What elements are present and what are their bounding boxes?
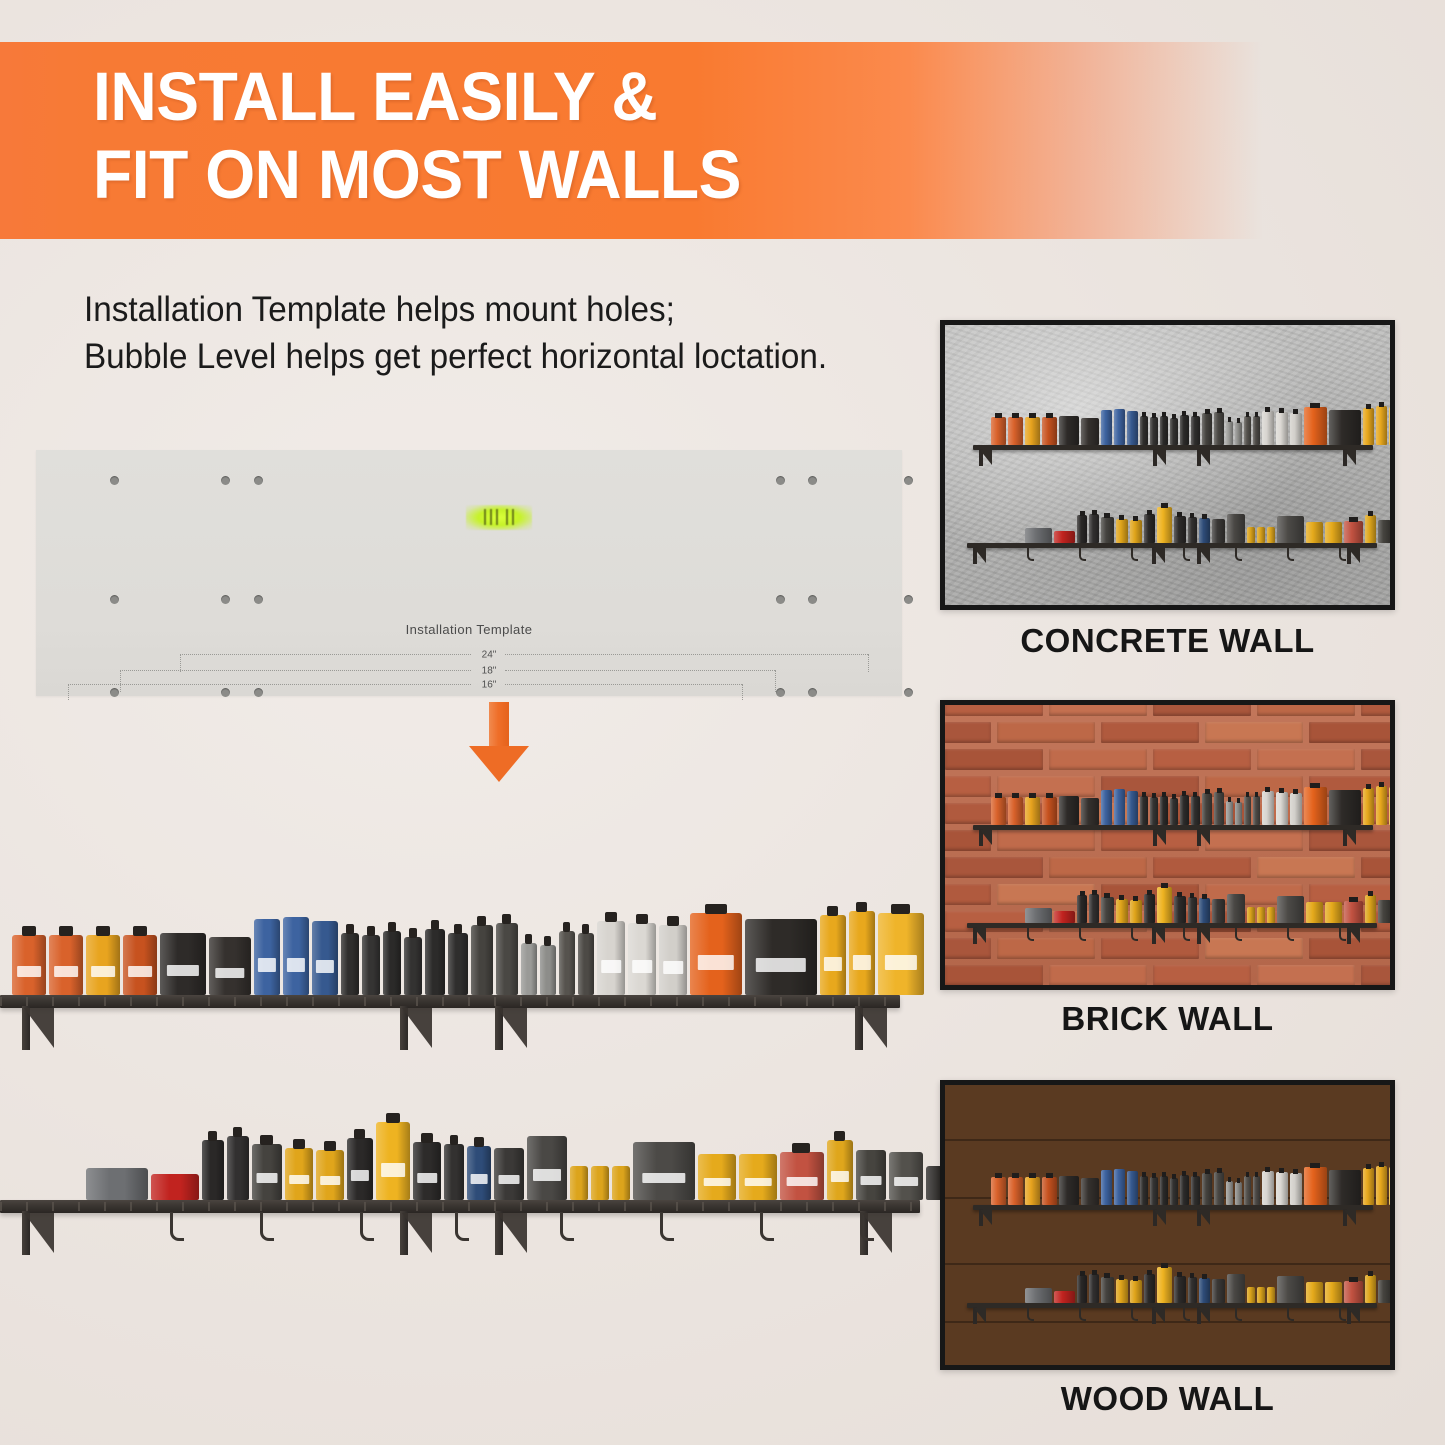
bottle-cap xyxy=(1349,897,1358,902)
mini-shelf-board xyxy=(973,825,1373,830)
bottle-cap xyxy=(1172,1174,1176,1179)
bottle-cap xyxy=(995,793,1002,798)
gray-jug xyxy=(1101,517,1114,543)
yellow-bucket xyxy=(1325,1282,1342,1303)
shelf-wire xyxy=(806,997,808,1006)
shelf-wire xyxy=(130,1202,132,1211)
yellow-brush xyxy=(1247,1287,1255,1303)
mini-shelf-hook xyxy=(1131,548,1138,561)
dimension-tick xyxy=(742,684,743,700)
brick xyxy=(945,857,1043,878)
mini-shelf-bracket xyxy=(1153,1209,1167,1226)
bottle-cap xyxy=(22,926,36,936)
product-label xyxy=(471,1174,488,1184)
installation-template-caption: Installation Template xyxy=(0,622,938,637)
bottle-cap xyxy=(1205,789,1210,794)
dimension-label: 24" xyxy=(482,650,497,661)
shelf-wire xyxy=(364,1202,366,1211)
mini-shelf-bracket xyxy=(1197,1307,1211,1324)
bottle-cap xyxy=(1104,1273,1110,1278)
bottle-cap xyxy=(1147,1270,1152,1275)
shelf-hook xyxy=(170,1212,184,1241)
yellow-brush xyxy=(1267,527,1275,543)
brick xyxy=(1153,700,1251,716)
bottle-cap xyxy=(525,934,532,944)
product-label xyxy=(258,958,276,972)
bottle-cap xyxy=(1092,1270,1097,1275)
product-label xyxy=(885,955,917,970)
bottle-cap xyxy=(354,1129,365,1139)
shelf-wire xyxy=(0,997,2,1006)
shelf-wire xyxy=(104,1202,106,1211)
shelf-wire xyxy=(390,997,392,1006)
gray-kettle xyxy=(1212,899,1225,923)
gray-bin xyxy=(1378,900,1391,923)
brick xyxy=(1257,749,1355,770)
gray-jug xyxy=(1101,897,1114,923)
bottle-cap xyxy=(1265,407,1270,412)
product-label xyxy=(287,958,305,972)
shelf-wire xyxy=(910,1202,912,1211)
gray-bin xyxy=(1378,520,1391,543)
shelf-wire xyxy=(364,997,366,1006)
shelf-wire xyxy=(208,1202,210,1211)
shelf-bracket xyxy=(495,1006,529,1050)
shelf-wire xyxy=(650,997,652,1006)
shelf-wire xyxy=(624,1202,626,1211)
shelf-bracket xyxy=(22,1006,56,1050)
silver-can xyxy=(1235,1182,1242,1205)
dimension-line-right xyxy=(505,684,742,685)
dimension-tick xyxy=(68,684,69,700)
product-label xyxy=(417,1173,437,1183)
shelf-wire xyxy=(104,997,106,1006)
brick xyxy=(1049,857,1147,878)
bottle-cap xyxy=(1202,894,1207,899)
arrow-stem xyxy=(489,702,509,750)
brick-row xyxy=(940,700,1395,722)
mini-shelf-hook xyxy=(1339,548,1346,561)
yellow-oil-jug xyxy=(1363,788,1374,825)
mini-shelf-bracket xyxy=(1153,449,1167,466)
bottle-cap xyxy=(1092,890,1097,895)
brick xyxy=(997,938,1095,959)
bottle-cap xyxy=(1293,789,1298,794)
blue-spray-bottle xyxy=(1101,1170,1112,1205)
shelf-wire xyxy=(702,1202,704,1211)
black-pump xyxy=(1144,1274,1155,1303)
mini-shelf-hook xyxy=(1183,1308,1190,1321)
header-text-block: INSTALL EASILY & FIT ON MOST WALLS xyxy=(93,58,1262,214)
blue-spray-bottle xyxy=(312,921,338,995)
level-tick xyxy=(496,509,498,525)
mini-shelf-bracket xyxy=(1347,1307,1361,1324)
yellow-brush xyxy=(570,1166,588,1200)
brick xyxy=(945,965,1043,986)
yellow-jug xyxy=(1025,797,1040,825)
yellow-canister xyxy=(1365,1275,1376,1303)
product-label xyxy=(663,961,683,974)
red-pot xyxy=(1344,521,1363,543)
black-bin-stack xyxy=(1081,1178,1099,1205)
bottle-cap xyxy=(1265,787,1270,792)
shelf-hook xyxy=(360,1212,374,1241)
gray-bucket xyxy=(1277,896,1304,923)
bottle-cap xyxy=(563,922,570,932)
orange-jug xyxy=(1042,797,1057,825)
black-bin-stack xyxy=(209,937,251,995)
product-label xyxy=(17,966,41,977)
blue-spray-bottle xyxy=(1127,791,1138,825)
gray-kettle xyxy=(494,1148,524,1200)
brick xyxy=(1257,700,1355,716)
shelf-wire xyxy=(676,997,678,1006)
bottle-cap xyxy=(1152,413,1156,418)
brick xyxy=(1361,965,1395,986)
yellow-container xyxy=(316,1150,344,1200)
shelf-wire xyxy=(884,1202,886,1211)
dimension-line-left xyxy=(120,670,471,671)
mounting-hole xyxy=(110,688,119,697)
bottle-cap xyxy=(1368,1271,1373,1276)
bottle-cap xyxy=(260,1135,273,1145)
shelf-wire xyxy=(442,1202,444,1211)
bottle-cap xyxy=(582,924,589,934)
gray-kettle xyxy=(1212,1279,1225,1303)
black-pump xyxy=(1144,894,1155,923)
orange-jug xyxy=(1042,1177,1057,1205)
dark-bottle xyxy=(1170,798,1178,825)
mini-shelf-hook xyxy=(1287,1308,1294,1321)
bottle-cap xyxy=(1394,1163,1395,1168)
level-tick xyxy=(512,509,514,525)
dark-bottle xyxy=(1180,1175,1189,1205)
brick xyxy=(1153,857,1251,878)
tool-rack xyxy=(1227,894,1245,923)
mini-shelf-hook xyxy=(1027,1308,1034,1321)
bottle-cap xyxy=(477,916,486,926)
bottle-cap xyxy=(1046,1173,1053,1178)
yellow-brush xyxy=(591,1166,609,1200)
red-pot xyxy=(1344,901,1363,923)
bottle-cap xyxy=(1310,1163,1320,1168)
concrete-wall-label: CONCRETE WALL xyxy=(940,622,1395,660)
mini-shelf-bracket xyxy=(973,1307,987,1324)
brick xyxy=(1101,830,1199,851)
product-label xyxy=(289,1175,309,1184)
gray-pump-bottle xyxy=(496,923,518,995)
brick xyxy=(945,700,1043,716)
shelf-wire xyxy=(260,997,262,1006)
bottle-cap xyxy=(454,924,462,934)
mini-shelf-hook xyxy=(1339,928,1346,941)
gray-pump-bottle xyxy=(1214,412,1224,445)
folded-red-stack xyxy=(151,1174,199,1200)
bottle-cap xyxy=(1368,891,1373,896)
black-pump xyxy=(1144,514,1155,543)
bottle-cap xyxy=(1147,890,1152,895)
bottle-cap xyxy=(1182,411,1186,416)
shelf-wire xyxy=(52,1202,54,1211)
mini-shelf-board xyxy=(973,1205,1373,1210)
product-label xyxy=(756,958,806,972)
header-banner: INSTALL EASILY & FIT ON MOST WALLS xyxy=(0,42,1262,239)
black-canister xyxy=(1089,514,1099,543)
bottle-cap xyxy=(667,916,679,926)
bottle-cap xyxy=(1193,1172,1197,1177)
yellow-container xyxy=(285,1148,313,1200)
mini-shelf-bracket xyxy=(1347,547,1361,564)
bottle-cap xyxy=(1152,793,1156,798)
brick-row xyxy=(940,965,1395,990)
dark-bottle xyxy=(1174,516,1186,543)
shelf-bracket xyxy=(400,1211,434,1255)
product-label xyxy=(698,955,734,970)
shelf-wire xyxy=(520,997,522,1006)
white-bottle xyxy=(1262,1171,1274,1205)
bottle-cap xyxy=(324,1141,336,1151)
bottle-cap xyxy=(1279,788,1284,793)
shelf-wire xyxy=(468,1202,470,1211)
dark-bottle xyxy=(413,1142,441,1200)
mini-shelf-bracket xyxy=(1347,927,1361,944)
shelf-wire xyxy=(832,997,834,1006)
dark-bottle xyxy=(1174,896,1186,923)
black-case-stack xyxy=(1329,1170,1361,1205)
white-bottle xyxy=(628,923,656,995)
bottle-cap xyxy=(293,1139,305,1149)
yellow-container xyxy=(1130,520,1142,543)
bottle-cap xyxy=(1217,408,1222,413)
dark-bottle xyxy=(1150,417,1158,445)
white-bottle xyxy=(1290,1173,1302,1205)
orange-detergent-jug xyxy=(690,913,742,995)
shelf-hook xyxy=(560,1212,574,1241)
bottle-cap xyxy=(995,1173,1002,1178)
gray-jug xyxy=(1101,1277,1114,1303)
dark-bottle xyxy=(1150,797,1158,825)
gray-crate xyxy=(1393,1281,1395,1303)
brick-row xyxy=(940,830,1395,857)
product-label xyxy=(499,1175,520,1184)
white-bottle xyxy=(659,925,687,995)
silver-can xyxy=(1226,801,1233,825)
shelf-wire xyxy=(442,997,444,1006)
black-case-stack xyxy=(1329,410,1361,445)
mounting-hole xyxy=(221,476,230,485)
bottle-cap xyxy=(1080,1271,1085,1276)
gray-kettle xyxy=(1212,519,1225,543)
bottle-cap xyxy=(1190,893,1194,898)
yellow-brush xyxy=(1247,907,1255,923)
product-label xyxy=(632,960,652,973)
bottle-cap xyxy=(1255,412,1258,417)
mini-shelf-bracket xyxy=(1152,547,1166,564)
mini-shelf-bracket xyxy=(1197,1209,1211,1226)
mounting-hole xyxy=(808,688,817,697)
bottle-cap xyxy=(1092,510,1097,515)
bottle-cap xyxy=(636,914,648,924)
yellow-container xyxy=(1130,1280,1142,1303)
shelf-wire xyxy=(520,1202,522,1211)
bottle-cap xyxy=(1205,409,1210,414)
mini-shelf-bracket xyxy=(1197,547,1211,564)
dark-bottle xyxy=(1160,416,1168,445)
gray-pump-bottle xyxy=(1214,1172,1224,1205)
yellow-bucket xyxy=(1325,522,1342,543)
bottle-cap xyxy=(1147,510,1152,515)
mini-shelf-hook xyxy=(1339,1308,1346,1321)
mini-shelf-hook xyxy=(1027,548,1034,561)
gray-bucket xyxy=(1277,516,1304,543)
yellow-brush xyxy=(1257,1287,1265,1303)
dimension-line-right xyxy=(505,654,868,655)
bottle-cap xyxy=(1255,792,1258,797)
tool-rack xyxy=(1227,514,1245,543)
yellow-funnel-jug xyxy=(1157,887,1172,923)
header-title-line1: INSTALL EASILY & xyxy=(93,58,1180,136)
bottle-cap xyxy=(1279,408,1284,413)
bottle-cap xyxy=(1394,403,1395,408)
mini-shelf-hook xyxy=(1183,548,1190,561)
yellow-oil-jug xyxy=(1363,1168,1374,1205)
shelf-wire xyxy=(676,1202,678,1211)
yellow-brush xyxy=(1267,1287,1275,1303)
shelf-wire xyxy=(858,1202,860,1211)
bottle-cap xyxy=(1246,792,1249,797)
bottle-cap xyxy=(1366,404,1371,409)
product-label xyxy=(257,1173,278,1183)
shelf-wire xyxy=(182,997,184,1006)
bottle-cap xyxy=(856,902,867,912)
shelf-wire xyxy=(546,1202,548,1211)
yellow-funnel-jug xyxy=(1157,1267,1172,1303)
shelf-wire xyxy=(598,997,600,1006)
shelf-wire xyxy=(780,997,782,1006)
brick-wall-background xyxy=(945,705,1390,985)
bottle-cap xyxy=(1119,895,1124,900)
bottle-cap xyxy=(1279,1168,1284,1173)
mini-shelf-hook xyxy=(1027,928,1034,941)
mini-shelf-bracket xyxy=(973,927,987,944)
gray-spray xyxy=(578,933,594,995)
dark-bottle xyxy=(1188,1277,1197,1303)
bottle-cap xyxy=(1237,1178,1240,1183)
mounting-hole xyxy=(776,476,785,485)
gray-pump-bottle xyxy=(471,925,493,995)
yellow-oil-jug xyxy=(849,911,875,995)
mini-shelf-hook xyxy=(1131,1308,1138,1321)
mini-shelf-bracket xyxy=(979,829,993,846)
concrete-wall-background xyxy=(945,325,1390,605)
blue-jug xyxy=(1199,1278,1210,1303)
brick xyxy=(945,749,1043,770)
product-label xyxy=(601,960,621,973)
installation-template-panel xyxy=(36,450,902,696)
brick-row xyxy=(940,722,1395,749)
brick xyxy=(940,884,991,905)
shelf-wire xyxy=(754,997,756,1006)
yellow-container xyxy=(1116,1279,1128,1303)
black-bin-stack xyxy=(1081,798,1099,825)
brick xyxy=(1361,700,1395,716)
orange-jug xyxy=(991,797,1006,825)
bottle-cap xyxy=(1217,788,1222,793)
shelf-wire xyxy=(312,997,314,1006)
bottle-cap xyxy=(1228,417,1231,422)
shelf-wire xyxy=(52,997,54,1006)
orange-jug xyxy=(991,417,1006,445)
bottle-cap xyxy=(1119,515,1124,520)
dark-bottle xyxy=(1140,796,1148,825)
wood-wall-label: WOOD WALL xyxy=(940,1380,1395,1418)
bottle-cap xyxy=(1310,403,1320,408)
product-label xyxy=(533,1169,561,1181)
blue-spray-bottle xyxy=(1127,1171,1138,1205)
mini-shelf-bracket xyxy=(1197,829,1211,846)
bottle-cap xyxy=(1202,514,1207,519)
shelf-wire xyxy=(286,997,288,1006)
dimension-line-left xyxy=(180,654,471,655)
bottle-cap xyxy=(891,904,910,914)
product-label xyxy=(894,1177,918,1186)
product-label xyxy=(320,1176,340,1185)
bottle-cap xyxy=(1142,412,1146,417)
yellow-canister xyxy=(827,1140,853,1200)
bottle-cap xyxy=(544,936,551,946)
product-label xyxy=(824,957,842,971)
dark-bottle xyxy=(1191,796,1200,825)
white-bottle xyxy=(1290,413,1302,445)
plank-seam xyxy=(945,1321,1390,1323)
mini-shelf-bracket xyxy=(1197,449,1211,466)
gray-bucket xyxy=(1277,1276,1304,1303)
mounting-hole xyxy=(221,688,230,697)
shelf-wire xyxy=(494,1202,496,1211)
gray-spray xyxy=(1253,796,1260,825)
black-case-stack xyxy=(745,919,817,995)
shelf-wire xyxy=(26,997,28,1006)
bottle-cap xyxy=(208,1131,217,1141)
shelf-wire xyxy=(312,1202,314,1211)
bottle-cap xyxy=(133,926,147,936)
folded-red-stack xyxy=(1054,1291,1075,1303)
shelf-wire xyxy=(286,1202,288,1211)
gray-pump-bottle xyxy=(1202,413,1212,445)
orange-jug xyxy=(49,935,83,995)
bottle-cap xyxy=(1046,413,1053,418)
mounting-hole xyxy=(904,595,913,604)
bottle-cap xyxy=(1182,791,1186,796)
brick-row xyxy=(940,749,1395,776)
black-canister xyxy=(202,1140,224,1200)
bottle-cap xyxy=(346,924,354,934)
white-bottle xyxy=(1262,791,1274,825)
bottle-cap xyxy=(705,904,727,914)
bottle-cap xyxy=(1293,1169,1298,1174)
shelf-hook xyxy=(260,1212,274,1241)
shelf-wire xyxy=(598,1202,600,1211)
red-pot xyxy=(1344,1281,1363,1303)
bottle-cap xyxy=(1119,1275,1124,1280)
mounting-hole xyxy=(904,688,913,697)
white-bottle xyxy=(1276,1172,1288,1205)
black-canister xyxy=(1077,895,1087,923)
gray-spray xyxy=(1244,416,1251,445)
brick xyxy=(1101,722,1199,743)
brick xyxy=(1049,700,1147,716)
bottle-cap xyxy=(1310,783,1320,788)
